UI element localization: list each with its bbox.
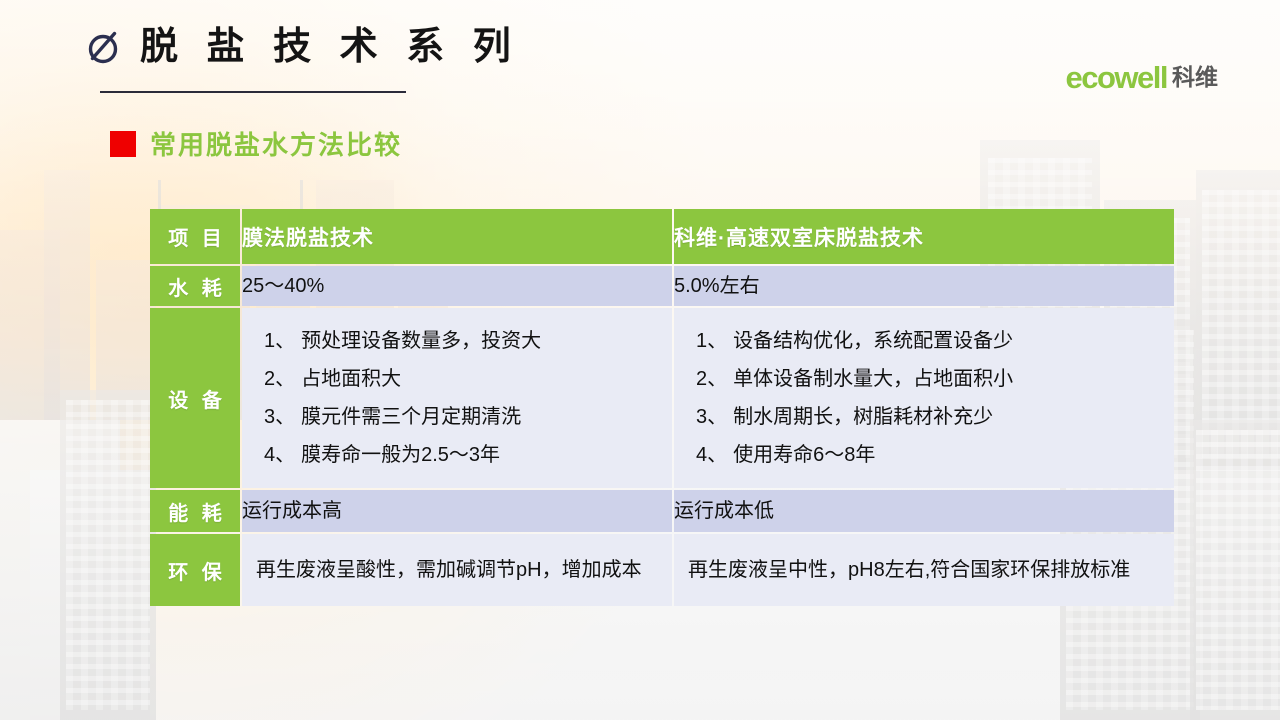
list-item-text: 设备结构优化，系统配置设备少 <box>733 331 1013 351</box>
page-title-row: 脱 盐 技 术 系 列 <box>86 28 520 66</box>
list-item: 2、占地面积大 <box>264 360 660 398</box>
list-item-text: 预处理设备数量多，投资大 <box>301 331 541 351</box>
list-item-number: 2、 <box>696 369 727 389</box>
diameter-symbol-icon <box>86 29 122 65</box>
table-header-row: 项 目 膜法脱盐技术 科维·高速双室床脱盐技术 <box>150 209 1174 264</box>
list-item: 3、膜元件需三个月定期清洗 <box>264 398 660 436</box>
equipment-membrane-list: 1、预处理设备数量多，投资大 2、占地面积大 3、膜元件需三个月定期清洗 4、膜… <box>264 322 660 474</box>
row-label-energy: 能 耗 <box>150 490 240 532</box>
title-divider <box>100 91 406 93</box>
list-item: 4、使用寿命6～8年 <box>696 436 1162 474</box>
list-item-text: 膜寿命一般为2.5～3年 <box>301 445 500 465</box>
comparison-table: 项 目 膜法脱盐技术 科维·高速双室床脱盐技术 水 耗 25～40% 5.0%左… <box>148 207 1176 608</box>
list-item-text: 膜元件需三个月定期清洗 <box>301 407 521 427</box>
cell-equipment-membrane: 1、预处理设备数量多，投资大 2、占地面积大 3、膜元件需三个月定期清洗 4、膜… <box>242 308 672 488</box>
page-title: 脱 盐 技 术 系 列 <box>140 28 520 66</box>
table-header-item: 项 目 <box>150 209 240 264</box>
cell-environment-membrane: 再生废液呈酸性，需加碱调节pH，增加成本 <box>242 534 672 606</box>
list-item-text: 制水周期长，树脂耗材补充少 <box>733 407 993 427</box>
list-item-number: 1、 <box>264 331 295 351</box>
table-row: 水 耗 25～40% 5.0%左右 <box>150 266 1174 306</box>
red-square-bullet-icon <box>110 131 136 157</box>
cell-energy-ecowell: 运行成本低 <box>674 490 1174 532</box>
table-row: 设 备 1、预处理设备数量多，投资大 2、占地面积大 3、膜元件需三个月定期清洗… <box>150 308 1174 488</box>
list-item: 4、膜寿命一般为2.5～3年 <box>264 436 660 474</box>
brand-logo: ecowell 科维 <box>1066 62 1219 93</box>
list-item-number: 1、 <box>696 331 727 351</box>
list-item-text: 占地面积大 <box>301 369 401 389</box>
equipment-ecowell-list: 1、设备结构优化，系统配置设备少 2、单体设备制水量大，占地面积小 3、制水周期… <box>696 322 1162 474</box>
row-label-equipment: 设 备 <box>150 308 240 488</box>
row-label-water: 水 耗 <box>150 266 240 306</box>
cell-environment-ecowell: 再生废液呈中性，pH8左右,符合国家环保排放标准 <box>674 534 1174 606</box>
cell-equipment-ecowell: 1、设备结构优化，系统配置设备少 2、单体设备制水量大，占地面积小 3、制水周期… <box>674 308 1174 488</box>
table-header-ecowell: 科维·高速双室床脱盐技术 <box>674 209 1174 264</box>
list-item-number: 4、 <box>264 445 295 465</box>
cell-water-membrane: 25～40% <box>242 266 672 306</box>
list-item: 1、设备结构优化，系统配置设备少 <box>696 322 1162 360</box>
row-label-environment: 环 保 <box>150 534 240 606</box>
list-item-number: 3、 <box>264 407 295 427</box>
section-heading: 常用脱盐水方法比较 <box>150 125 402 162</box>
brand-logo-cn-text: 科维 <box>1172 66 1218 89</box>
brand-logo-text: ecowell <box>1066 62 1168 93</box>
section-heading-row: 常用脱盐水方法比较 <box>110 125 402 162</box>
table-row: 能 耗 运行成本高 运行成本低 <box>150 490 1174 532</box>
list-item: 3、制水周期长，树脂耗材补充少 <box>696 398 1162 436</box>
list-item-number: 3、 <box>696 407 727 427</box>
list-item: 2、单体设备制水量大，占地面积小 <box>696 360 1162 398</box>
table-row: 环 保 再生废液呈酸性，需加碱调节pH，增加成本 再生废液呈中性，pH8左右,符… <box>150 534 1174 606</box>
list-item: 1、预处理设备数量多，投资大 <box>264 322 660 360</box>
list-item-text: 使用寿命6～8年 <box>733 445 875 465</box>
cell-water-ecowell: 5.0%左右 <box>674 266 1174 306</box>
cell-energy-membrane: 运行成本高 <box>242 490 672 532</box>
table-header-membrane: 膜法脱盐技术 <box>242 209 672 264</box>
list-item-text: 单体设备制水量大，占地面积小 <box>733 369 1013 389</box>
slide: 脱 盐 技 术 系 列 常用脱盐水方法比较 ecowell 科维 项 目 膜法脱… <box>0 0 1280 720</box>
list-item-number: 2、 <box>264 369 295 389</box>
list-item-number: 4、 <box>696 445 727 465</box>
